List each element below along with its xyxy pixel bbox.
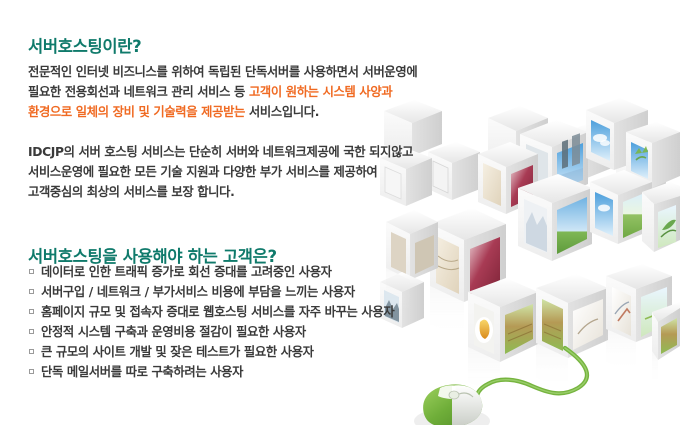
paragraph-idcjp-line-2: 서비스운영에 필요한 모든 기술 지원과 다양한 부가 서비스를 제공하여	[28, 162, 413, 182]
list-item-label: 데이터로 인한 트래픽 증가로 회선 증대를 고려중인 사용자	[41, 263, 332, 283]
paragraph-intro: 전문적인 인터넷 비즈니스를 위하여 독립된 단독서버를 사용하면서 서버운영에…	[28, 62, 417, 122]
list-item: 데이터로 인한 트래픽 증가로 회선 증대를 고려중인 사용자	[29, 263, 394, 283]
list-item-label: 안정적 시스템 구축과 운영비용 절감이 필요한 사용자	[41, 323, 306, 343]
text-run: 전문적인 인터넷 비즈니스를 위하여 독립된 단독서버를 사용하면서 서버운영에	[28, 65, 417, 79]
section-title-what-is-server-hosting: 서버호스팅이란?	[28, 33, 141, 57]
square-bullet-icon	[29, 369, 34, 374]
text-run: 필요한 전용회선과 네트워크 관리 서비스 등	[28, 85, 249, 99]
cube-collage-with-mouse-illustration	[380, 96, 680, 425]
square-bullet-icon	[29, 269, 34, 274]
paragraph-intro-line-1: 전문적인 인터넷 비즈니스를 위하여 독립된 단독서버를 사용하면서 서버운영에	[28, 62, 417, 82]
square-bullet-icon	[29, 309, 34, 314]
text-run-highlight: 고객이 원하는 시스템 사양과	[249, 85, 392, 99]
paragraph-idcjp-line-1: IDCJP의 서버 호스팅 서비스는 단순히 서버와 네트워크제공에 국한 되지…	[28, 142, 413, 162]
paragraph-idcjp-line-3: 고객중심의 최상의 서비스를 보장 합니다.	[28, 182, 413, 202]
cube-picture-amber-egg	[468, 278, 538, 362]
list-item: 서버구입 / 네트워크 / 부가서비스 비용에 부담을 느끼는 사용자	[29, 283, 394, 303]
square-bullet-icon	[29, 289, 34, 294]
square-bullet-icon	[29, 349, 34, 354]
text-run-highlight: 환경으로 일체의 장비 및 기술력을 제공받는	[28, 105, 245, 119]
text-run: 서비스입니다.	[245, 105, 319, 119]
square-bullet-icon	[29, 329, 34, 334]
list-item: 단독 메일서버를 따로 구축하려는 사용자	[29, 363, 394, 383]
text-run: IDCJP의 서버 호스팅 서비스는 단순히 서버와 네트워크제공에 국한 되지…	[28, 145, 413, 159]
paragraph-intro-line-3: 환경으로 일체의 장비 및 기술력을 제공받는 서비스입니다.	[28, 102, 417, 122]
list-item: 큰 규모의 사이트 개발 및 잦은 테스트가 필요한 사용자	[29, 343, 394, 363]
list-item-label: 단독 메일서버를 따로 구축하려는 사용자	[41, 363, 243, 383]
page-root: 서버호스팅이란? 전문적인 인터넷 비즈니스를 위하여 독립된 단독서버를 사용…	[0, 0, 680, 425]
cube-picture-grass-far-right	[652, 302, 680, 360]
paragraph-intro-line-2: 필요한 전용회선과 네트워크 관리 서비스 등 고객이 원하는 시스템 사양과	[28, 82, 417, 102]
text-run: 서비스운영에 필요한 모든 기술 지원과 다양한 부가 서비스를 제공하여	[28, 165, 377, 179]
paragraph-idcjp-service: IDCJP의 서버 호스팅 서비스는 단순히 서버와 네트워크제공에 국한 되지…	[28, 142, 413, 202]
cube-picture-leaf-right	[642, 182, 680, 252]
text-run: 고객중심의 최상의 서비스를 보장 합니다.	[28, 185, 234, 199]
list-item: 홈페이지 규모 및 접속자 증대로 웹호스팅 서비스를 자주 바꾸는 사용자	[29, 303, 394, 323]
list-item-label: 큰 규모의 사이트 개발 및 잦은 테스트가 필요한 사용자	[41, 343, 314, 363]
list-item: 안정적 시스템 구축과 운영비용 절감이 필요한 사용자	[29, 323, 394, 343]
list-item-label: 서버구입 / 네트워크 / 부가서비스 비용에 부담을 느끼는 사용자	[41, 283, 355, 303]
cube-picture-wheat	[536, 274, 608, 358]
list-item-label: 홈페이지 규모 및 접속자 증대로 웹호스팅 서비스를 자주 바꾸는 사용자	[41, 303, 394, 323]
cube-outline-left-a	[428, 142, 480, 200]
target-customers-list: 데이터로 인한 트래픽 증가로 회선 증대를 고려중인 사용자 서버구입 / 네…	[29, 263, 394, 383]
